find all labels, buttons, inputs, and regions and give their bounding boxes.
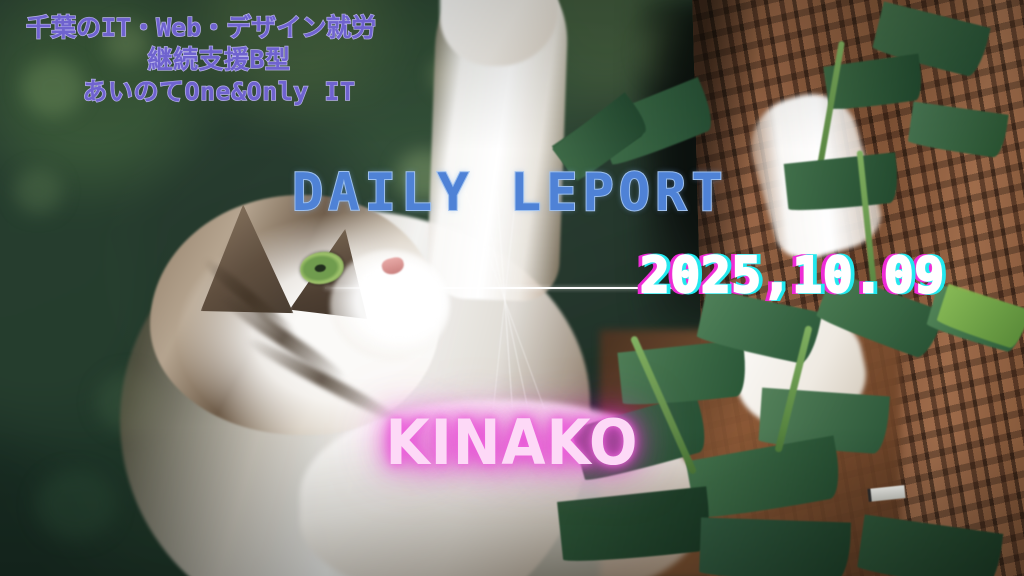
video-thumbnail: 千葉のIT・Web・デザイン就労 継続支援B型 あいのてOne&Only IT … [0, 0, 1024, 576]
header-line-1: 千葉のIT・Web・デザイン就労 [0, 12, 420, 44]
header-line-2: 継続支援B型 [0, 44, 420, 76]
header-line-3: あいのてOne&Only IT [0, 76, 420, 108]
date-text: 2025,10.09 [640, 249, 945, 303]
page-title: DAILY LEPORT [292, 163, 728, 223]
date-display: 2025,10.09 2025,10.09 2025,10.09 [640, 249, 1020, 303]
text-overlay: 千葉のIT・Web・デザイン就労 継続支援B型 あいのてOne&Only IT … [0, 0, 1024, 576]
subject-name: KINAKO [41, 406, 983, 479]
organization-header: 千葉のIT・Web・デザイン就労 継続支援B型 あいのてOne&Only IT [0, 12, 420, 108]
